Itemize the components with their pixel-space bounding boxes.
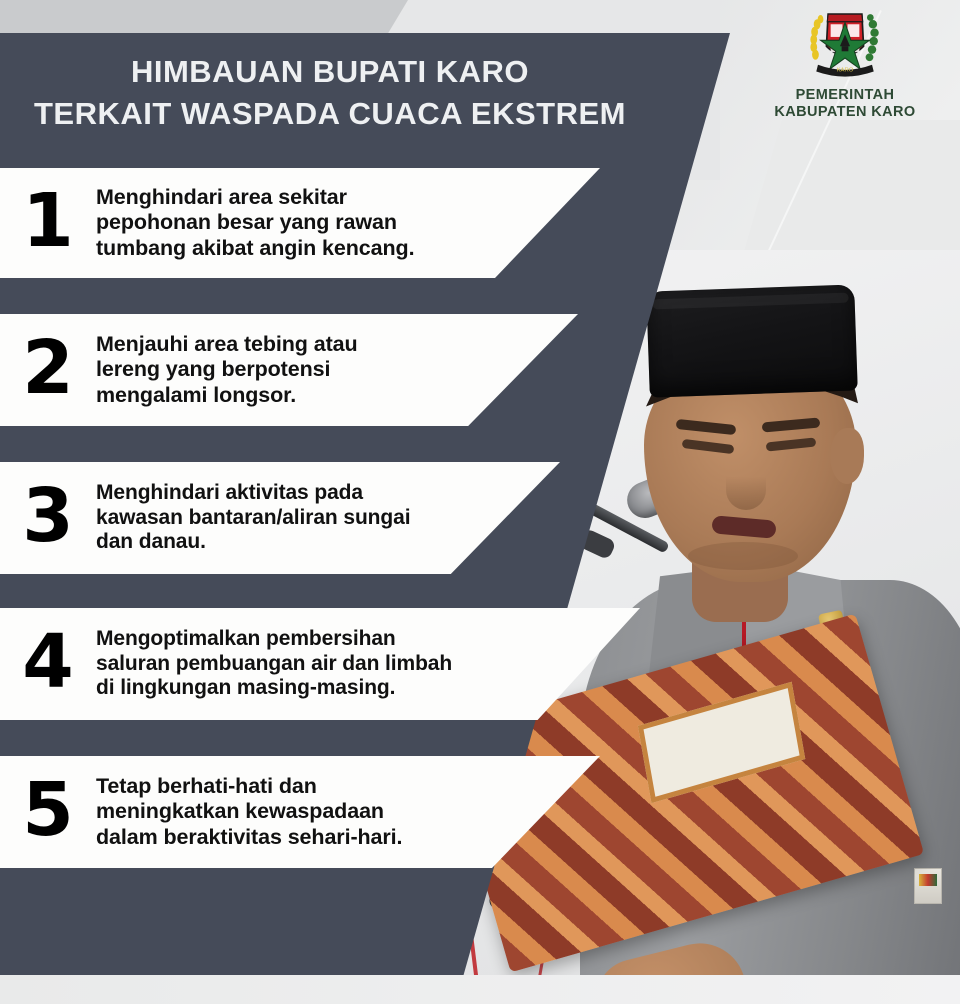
- item-5-line-1: Tetap berhati-hati dan: [96, 774, 590, 799]
- item-number-3: 3: [0, 479, 96, 557]
- advice-item-4: 4 Mengoptimalkan pembersihan saluran pem…: [0, 608, 640, 720]
- header: HIMBAUAN BUPATI KARO TERKAIT WASPADA CUA…: [0, 33, 730, 158]
- title-line-2: TERKAIT WASPADA CUACA EKSTREM: [0, 93, 660, 135]
- title-line-1: HIMBAUAN BUPATI KARO: [131, 54, 529, 89]
- item-3-line-1: Menghindari aktivitas pada: [96, 481, 550, 506]
- item-5-line-2: meningkatkan kewaspadaan: [96, 799, 590, 824]
- folder-label: [638, 682, 805, 803]
- item-number-1: 1: [0, 184, 96, 262]
- bottom-strip: [0, 975, 960, 1004]
- chin-shadow: [688, 542, 798, 570]
- page-title: HIMBAUAN BUPATI KARO TERKAIT WASPADA CUA…: [0, 51, 660, 135]
- government-logo-block: KARO PEMERINTAH KABUPATEN KARO: [750, 4, 940, 120]
- item-2-line-1: Menjauhi area tebing atau: [96, 332, 568, 357]
- svg-text:KARO: KARO: [837, 68, 854, 74]
- item-2-line-2: lereng yang berpotensi: [96, 357, 568, 382]
- item-4-line-2: saluran pembuangan air dan limbah: [96, 652, 630, 677]
- ear: [830, 428, 864, 484]
- item-4-line-1: Mengoptimalkan pembersihan: [96, 627, 630, 652]
- item-3-line-2: kawasan bantaran/aliran sungai: [96, 506, 550, 531]
- item-1-line-2: pepohonan besar yang rawan: [96, 210, 590, 235]
- karo-coat-of-arms-icon: KARO: [802, 4, 888, 80]
- infographic-poster: HIMBAUAN BUPATI KARO TERKAIT WASPADA CUA…: [0, 0, 960, 1004]
- logo-caption-line-1: PEMERINTAH: [796, 87, 895, 103]
- logo-caption: PEMERINTAH KABUPATEN KARO: [750, 87, 940, 120]
- item-1-line-1: Menghindari area sekitar: [96, 185, 590, 210]
- item-4-line-3: di lingkungan masing-masing.: [96, 676, 630, 701]
- logo-caption-line-2: KABUPATEN KARO: [750, 104, 940, 121]
- item-text-4: Mengoptimalkan pembersihan saluran pembu…: [96, 627, 640, 701]
- peci-cap: [646, 284, 858, 397]
- nose: [726, 454, 766, 510]
- item-number-4: 4: [0, 625, 96, 703]
- item-number-2: 2: [0, 331, 96, 409]
- advice-item-1: 1 Menghindari area sekitar pepohonan bes…: [0, 168, 600, 278]
- item-number-5: 5: [0, 773, 96, 851]
- uniform-badge: [914, 868, 942, 904]
